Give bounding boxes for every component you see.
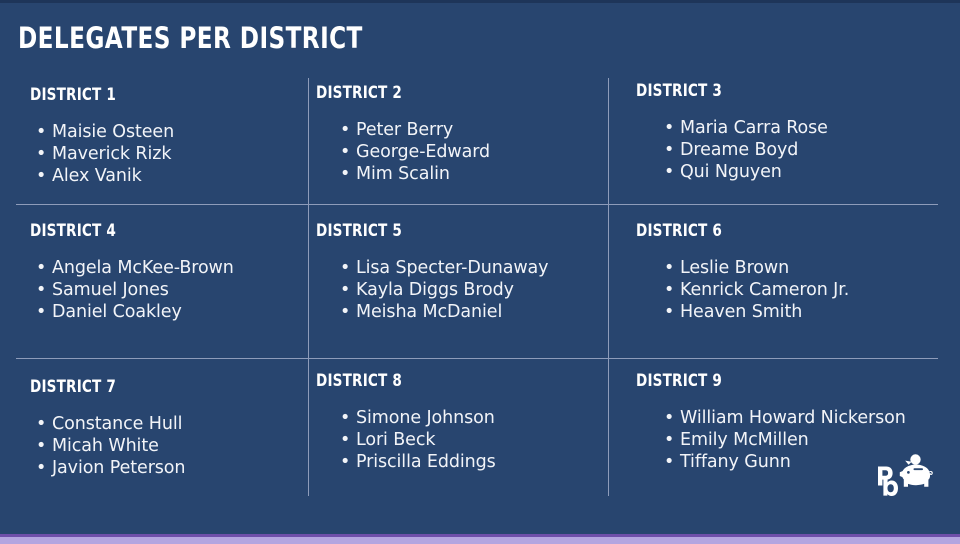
list-item: •Mim Scalin — [334, 163, 490, 185]
district-cell-9: DISTRICT 9 •William Howard Nickerson •Em… — [636, 372, 906, 473]
district-cell-8: DISTRICT 8 •Simone Johnson •Lori Beck •P… — [316, 372, 496, 473]
bullet-icon: • — [664, 407, 674, 429]
row-divider — [16, 358, 938, 359]
delegate-list: •Maisie Osteen •Maverick Rizk •Alex Vani… — [30, 121, 174, 187]
list-item: •Dreame Boyd — [658, 139, 828, 161]
list-item: •Simone Johnson — [334, 407, 496, 429]
delegate-name: George-Edward — [356, 142, 490, 162]
list-item: •Lori Beck — [334, 429, 496, 451]
district-cell-3: DISTRICT 3 •Maria Carra Rose •Dreame Boy… — [636, 82, 828, 183]
delegate-name: Daniel Coakley — [52, 302, 182, 322]
list-item: •Daniel Coakley — [30, 301, 234, 323]
bullet-icon: • — [664, 451, 674, 473]
district-heading: DISTRICT 7 — [30, 378, 154, 397]
bullet-icon: • — [36, 457, 46, 479]
delegate-name: Lisa Specter-Dunaway — [356, 258, 548, 278]
delegate-name: Maverick Rizk — [52, 144, 171, 164]
column-divider — [308, 78, 309, 496]
bullet-icon: • — [36, 165, 46, 187]
delegate-name: Meisha McDaniel — [356, 302, 502, 322]
list-item: •Maverick Rizk — [30, 143, 174, 165]
list-item: •Samuel Jones — [30, 279, 234, 301]
delegate-list: •Maria Carra Rose •Dreame Boyd •Qui Nguy… — [636, 117, 828, 183]
district-heading: DISTRICT 8 — [316, 372, 460, 391]
delegate-name: Maisie Osteen — [52, 122, 174, 142]
bullet-icon: • — [340, 301, 350, 323]
bottom-accent-band — [0, 537, 960, 544]
bullet-icon: • — [340, 451, 350, 473]
delegate-list: •Simone Johnson •Lori Beck •Priscilla Ed… — [316, 407, 496, 473]
district-heading: DISTRICT 2 — [316, 84, 455, 103]
list-item: •Javion Peterson — [30, 457, 185, 479]
bullet-icon: • — [36, 301, 46, 323]
delegate-name: Samuel Jones — [52, 280, 169, 300]
bullet-icon: • — [664, 429, 674, 451]
bullet-icon: • — [36, 279, 46, 301]
bullet-icon: • — [36, 257, 46, 279]
list-item: •Lisa Specter-Dunaway — [334, 257, 548, 279]
column-divider — [608, 78, 609, 496]
list-item: •Qui Nguyen — [658, 161, 828, 183]
row-divider — [16, 204, 938, 205]
bullet-icon: • — [664, 161, 674, 183]
slide-canvas: DELEGATES PER DISTRICT DISTRICT 1 •Maisi… — [0, 0, 960, 544]
bullet-icon: • — [664, 279, 674, 301]
list-item: •Leslie Brown — [658, 257, 849, 279]
bullet-icon: • — [36, 435, 46, 457]
bullet-icon: • — [340, 429, 350, 451]
bullet-icon: • — [340, 119, 350, 141]
delegate-name: Simone Johnson — [356, 408, 495, 428]
bullet-icon: • — [340, 407, 350, 429]
bullet-icon: • — [664, 301, 674, 323]
delegate-name: Maria Carra Rose — [680, 118, 828, 138]
bullet-icon: • — [340, 163, 350, 185]
list-item: •Emily McMillen — [658, 429, 906, 451]
list-item: •Meisha McDaniel — [334, 301, 548, 323]
piggy-bank-logo — [872, 452, 934, 500]
bullet-icon: • — [664, 139, 674, 161]
delegate-name: Leslie Brown — [680, 258, 789, 278]
list-item: •Peter Berry — [334, 119, 490, 141]
delegate-name: Emily McMillen — [680, 430, 809, 450]
delegate-name: Peter Berry — [356, 120, 453, 140]
delegate-name: Kenrick Cameron Jr. — [680, 280, 849, 300]
list-item: •William Howard Nickerson — [658, 407, 906, 429]
delegate-name: Lori Beck — [356, 430, 435, 450]
district-heading: DISTRICT 5 — [316, 222, 502, 241]
delegate-list: •William Howard Nickerson •Emily McMille… — [636, 407, 906, 473]
district-heading: DISTRICT 6 — [636, 222, 807, 241]
district-cell-1: DISTRICT 1 •Maisie Osteen •Maverick Rizk… — [30, 86, 174, 187]
delegate-list: •Constance Hull •Micah White •Javion Pet… — [30, 413, 185, 479]
district-cell-2: DISTRICT 2 •Peter Berry •George-Edward •… — [316, 84, 490, 185]
bullet-icon: • — [340, 257, 350, 279]
page-title: DELEGATES PER DISTRICT — [18, 22, 363, 54]
delegate-name: Dreame Boyd — [680, 140, 798, 160]
list-item: •Constance Hull — [30, 413, 185, 435]
delegate-name: Heaven Smith — [680, 302, 802, 322]
district-cell-5: DISTRICT 5 •Lisa Specter-Dunaway •Kayla … — [316, 222, 548, 323]
delegate-name: William Howard Nickerson — [680, 408, 906, 428]
list-item: •George-Edward — [334, 141, 490, 163]
delegate-list: •Angela McKee-Brown •Samuel Jones •Danie… — [30, 257, 234, 323]
delegate-list: •Lisa Specter-Dunaway •Kayla Diggs Brody… — [316, 257, 548, 323]
bullet-icon: • — [36, 413, 46, 435]
list-item: •Alex Vanik — [30, 165, 174, 187]
delegate-list: •Peter Berry •George-Edward •Mim Scalin — [316, 119, 490, 185]
delegate-list: •Leslie Brown •Kenrick Cameron Jr. •Heav… — [636, 257, 849, 323]
delegate-name: Priscilla Eddings — [356, 452, 496, 472]
district-cell-7: DISTRICT 7 •Constance Hull •Micah White … — [30, 378, 185, 479]
bullet-icon: • — [664, 117, 674, 139]
bullet-icon: • — [340, 279, 350, 301]
delegate-name: Qui Nguyen — [680, 162, 782, 182]
list-item: •Maria Carra Rose — [658, 117, 828, 139]
list-item: •Tiffany Gunn — [658, 451, 906, 473]
delegate-name: Micah White — [52, 436, 159, 456]
delegate-name: Constance Hull — [52, 414, 182, 434]
delegate-name: Angela McKee-Brown — [52, 258, 234, 278]
list-item: •Heaven Smith — [658, 301, 849, 323]
delegate-name: Tiffany Gunn — [680, 452, 791, 472]
district-heading: DISTRICT 4 — [30, 222, 193, 241]
bullet-icon: • — [36, 143, 46, 165]
district-heading: DISTRICT 9 — [636, 372, 852, 391]
delegate-name: Javion Peterson — [52, 458, 185, 478]
district-cell-6: DISTRICT 6 •Leslie Brown •Kenrick Camero… — [636, 222, 849, 323]
bullet-icon: • — [340, 141, 350, 163]
top-edge-rule — [0, 0, 960, 3]
list-item: •Priscilla Eddings — [334, 451, 496, 473]
list-item: •Maisie Osteen — [30, 121, 174, 143]
bullet-icon: • — [664, 257, 674, 279]
district-heading: DISTRICT 3 — [636, 82, 789, 101]
list-item: •Kenrick Cameron Jr. — [658, 279, 849, 301]
list-item: •Kayla Diggs Brody — [334, 279, 548, 301]
district-cell-4: DISTRICT 4 •Angela McKee-Brown •Samuel J… — [30, 222, 234, 323]
list-item: •Angela McKee-Brown — [30, 257, 234, 279]
list-item: •Micah White — [30, 435, 185, 457]
delegate-name: Mim Scalin — [356, 164, 450, 184]
delegate-name: Kayla Diggs Brody — [356, 280, 514, 300]
bullet-icon: • — [36, 121, 46, 143]
district-heading: DISTRICT 1 — [30, 86, 145, 105]
delegate-name: Alex Vanik — [52, 166, 142, 186]
district-grid: DISTRICT 1 •Maisie Osteen •Maverick Rizk… — [0, 72, 960, 500]
